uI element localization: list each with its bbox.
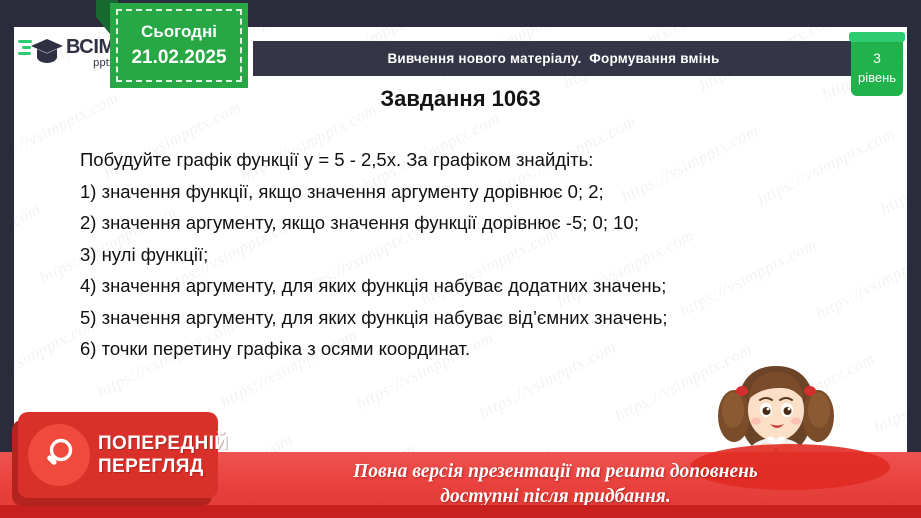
brand-logo-text: ВСІМ pptx	[66, 37, 115, 69]
page-title: Завдання 1063	[0, 86, 921, 112]
purchase-banner-text: Повна версія презентації та решта доповн…	[230, 459, 881, 509]
graduation-cap-icon	[18, 34, 64, 72]
level-badge: 3 рівень	[851, 40, 903, 96]
section-header-bar: Вивчення нового матеріалу. Формування вм…	[253, 41, 854, 76]
preview-button-line1: ПОПЕРЕДНІЙ	[98, 432, 228, 455]
purchase-banner-line1: Повна версія презентації та решта доповн…	[230, 459, 881, 484]
preview-button-label: ПОПЕРЕДНІЙ ПЕРЕГЛЯД	[98, 432, 228, 478]
slide-canvas: https://vsimpptx.comhttps://vsimpptx.com…	[0, 0, 921, 518]
task-body-line: 3) нулі функції;	[80, 239, 880, 271]
task-body-line: Побудуйте графік функції y = 5 - 2,5х. З…	[80, 144, 880, 176]
today-ribbon: Сьогодні 21.02.2025	[110, 3, 248, 88]
preview-button[interactable]: ПОПЕРЕДНІЙ ПЕРЕГЛЯД	[18, 412, 218, 498]
magnifier-icon	[28, 424, 90, 486]
level-number: 3	[873, 51, 881, 66]
preview-button-line2: ПЕРЕГЛЯД	[98, 455, 228, 478]
task-body-line: 5) значення аргументу, для яких функція …	[80, 302, 880, 334]
brand-name: ВСІМ	[66, 37, 115, 57]
today-label: Сьогодні	[141, 22, 217, 42]
section-header-text: Вивчення нового матеріалу. Формування вм…	[387, 51, 719, 66]
brand-suffix: pptx	[66, 58, 115, 69]
today-date: 21.02.2025	[131, 47, 226, 69]
banner-bottom-strip	[0, 505, 921, 518]
task-body-line: 2) значення аргументу, якщо значення фун…	[80, 207, 880, 239]
task-body: Побудуйте графік функції y = 5 - 2,5х. З…	[80, 144, 880, 365]
level-word: рівень	[858, 70, 896, 86]
task-body-line: 1) значення функції, якщо значення аргум…	[80, 176, 880, 208]
task-body-line: 4) значення аргументу, для яких функція …	[80, 270, 880, 302]
